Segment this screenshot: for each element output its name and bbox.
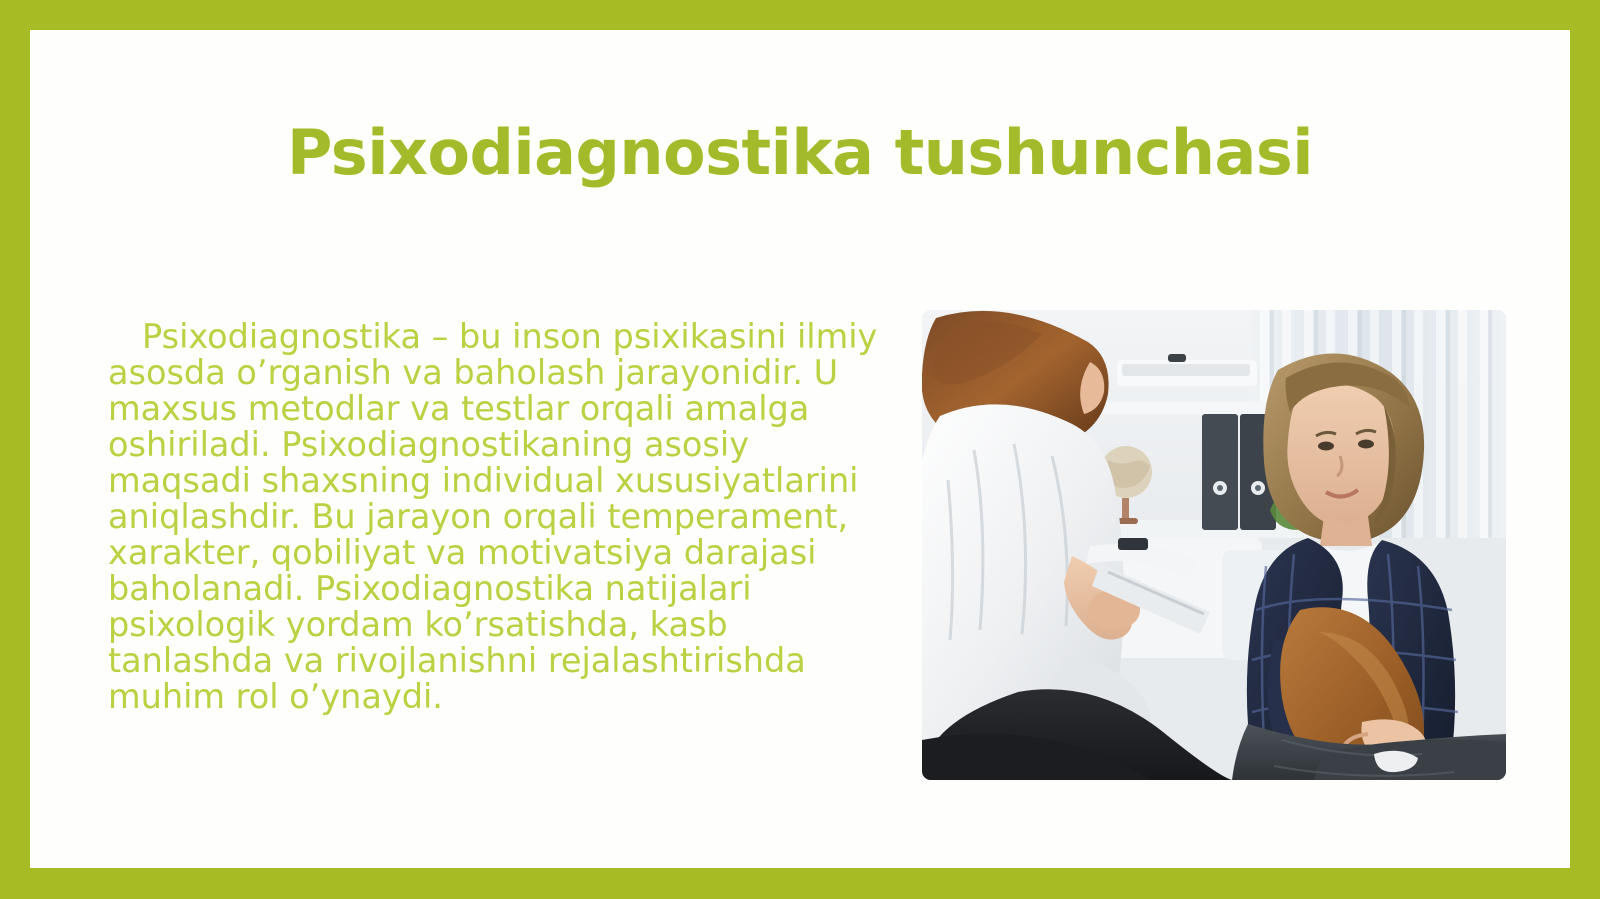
page-title: Psixodiagnostika tushunchasi (30, 118, 1570, 188)
presentation-slide: Psixodiagnostika tushunchasi Psixodiagno… (0, 0, 1600, 899)
slide-content-area: Psixodiagnostika tushunchasi Psixodiagno… (30, 30, 1570, 868)
session-photo-illustration (922, 310, 1506, 780)
body-paragraph: Psixodiagnostika – bu inson psixikasini … (108, 319, 890, 715)
session-photo (922, 310, 1506, 780)
